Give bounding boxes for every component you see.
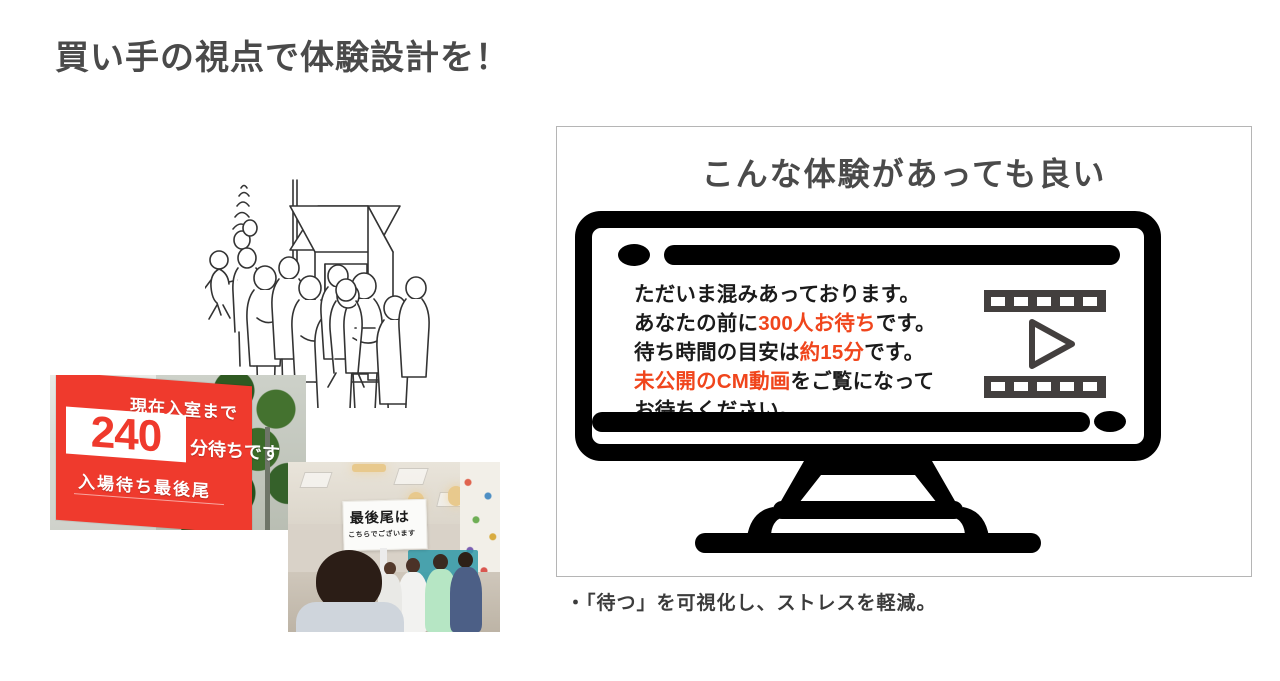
sign-wait-number: 240 xyxy=(66,407,186,463)
message-text: です。 xyxy=(876,312,936,335)
page-title: 買い手の視点で体験設計を！ xyxy=(55,38,510,79)
red-wait-sign-photo: 現在入室まで 240 分待ちです 入場待ち最後尾 xyxy=(50,375,306,530)
red-sign-board: 現在入室まで 240 分待ちです 入場待ち最後尾 xyxy=(56,375,252,530)
bottombar-dot-icon xyxy=(1094,411,1126,432)
sign-wait-unit: 分待ちです xyxy=(190,434,280,467)
monitor-screen-frame: ただいま混みあっております。あなたの前に300人お待ちです。待ち時間の目安は約1… xyxy=(575,211,1161,461)
monitor-message: ただいま混みあっております。あなたの前に300人お待ちです。待ち時間の目安は約1… xyxy=(634,280,964,426)
monitor-stand xyxy=(575,455,1161,561)
queue-end-sign: 最後尾は こちらでございます xyxy=(342,499,427,551)
foreground-person-body xyxy=(296,602,404,632)
titlebar-pill-icon xyxy=(664,245,1120,265)
indoor-queue-photo: 最後尾は こちらでございます xyxy=(288,462,500,632)
message-text: あなたの前に xyxy=(634,312,758,335)
message-line-3: 待ち時間の目安は約15分です。 xyxy=(634,338,964,367)
person-head xyxy=(433,554,448,570)
person-head xyxy=(458,552,473,568)
message-line-1: ただいま混みあっております。 xyxy=(634,280,964,309)
monitor-illustration: ただいま混みあっております。あなたの前に300人お待ちです。待ち時間の目安は約1… xyxy=(575,211,1235,561)
message-text: ただいま混みあっております。 xyxy=(634,283,920,306)
slide-canvas: 買い手の視点で体験設計を！ xyxy=(0,0,1280,681)
bottombar-pill-icon xyxy=(592,412,1090,432)
titlebar-dot-icon xyxy=(618,244,650,266)
panel-heading: こんな体験があっても良い xyxy=(557,149,1251,195)
message-text: 待ち時間の目安は xyxy=(634,341,800,364)
queue-sign-sub-text: こちらでございます xyxy=(348,528,416,540)
queue-line-drawing xyxy=(205,168,505,408)
message-line-2: あなたの前に300人お待ちです。 xyxy=(634,309,964,338)
ceiling-tile xyxy=(299,472,332,488)
message-highlight: 未公開のCM動画 xyxy=(634,370,790,393)
message-text: です。 xyxy=(864,341,924,364)
message-line: ただいま混みあっております。あなたの前に300人お待ちです。待ち時間の目安は約1… xyxy=(634,280,964,426)
ceiling-tile xyxy=(393,468,429,485)
message-highlight: 300人お待ち xyxy=(758,312,876,335)
panel-caption: ・「待つ」を可視化し、ストレスを軽減。 xyxy=(566,588,937,615)
queue-sign-main-text: 最後尾は xyxy=(350,506,411,528)
experience-panel: こんな体験があっても良い ただいま混みあっております。あなたの前に300人お待ち… xyxy=(556,126,1252,577)
person-body xyxy=(450,567,482,632)
message-line-4: 未公開のCM動画をご覧になって xyxy=(634,367,964,396)
message-text: をご覧になって xyxy=(790,370,934,393)
person-head xyxy=(406,558,420,573)
ceiling-lamp xyxy=(352,464,386,472)
sign-line-3: 入場待ち最後尾 xyxy=(78,467,211,502)
film-strip-play-icon xyxy=(984,290,1106,398)
message-highlight: 約15分 xyxy=(800,341,865,364)
